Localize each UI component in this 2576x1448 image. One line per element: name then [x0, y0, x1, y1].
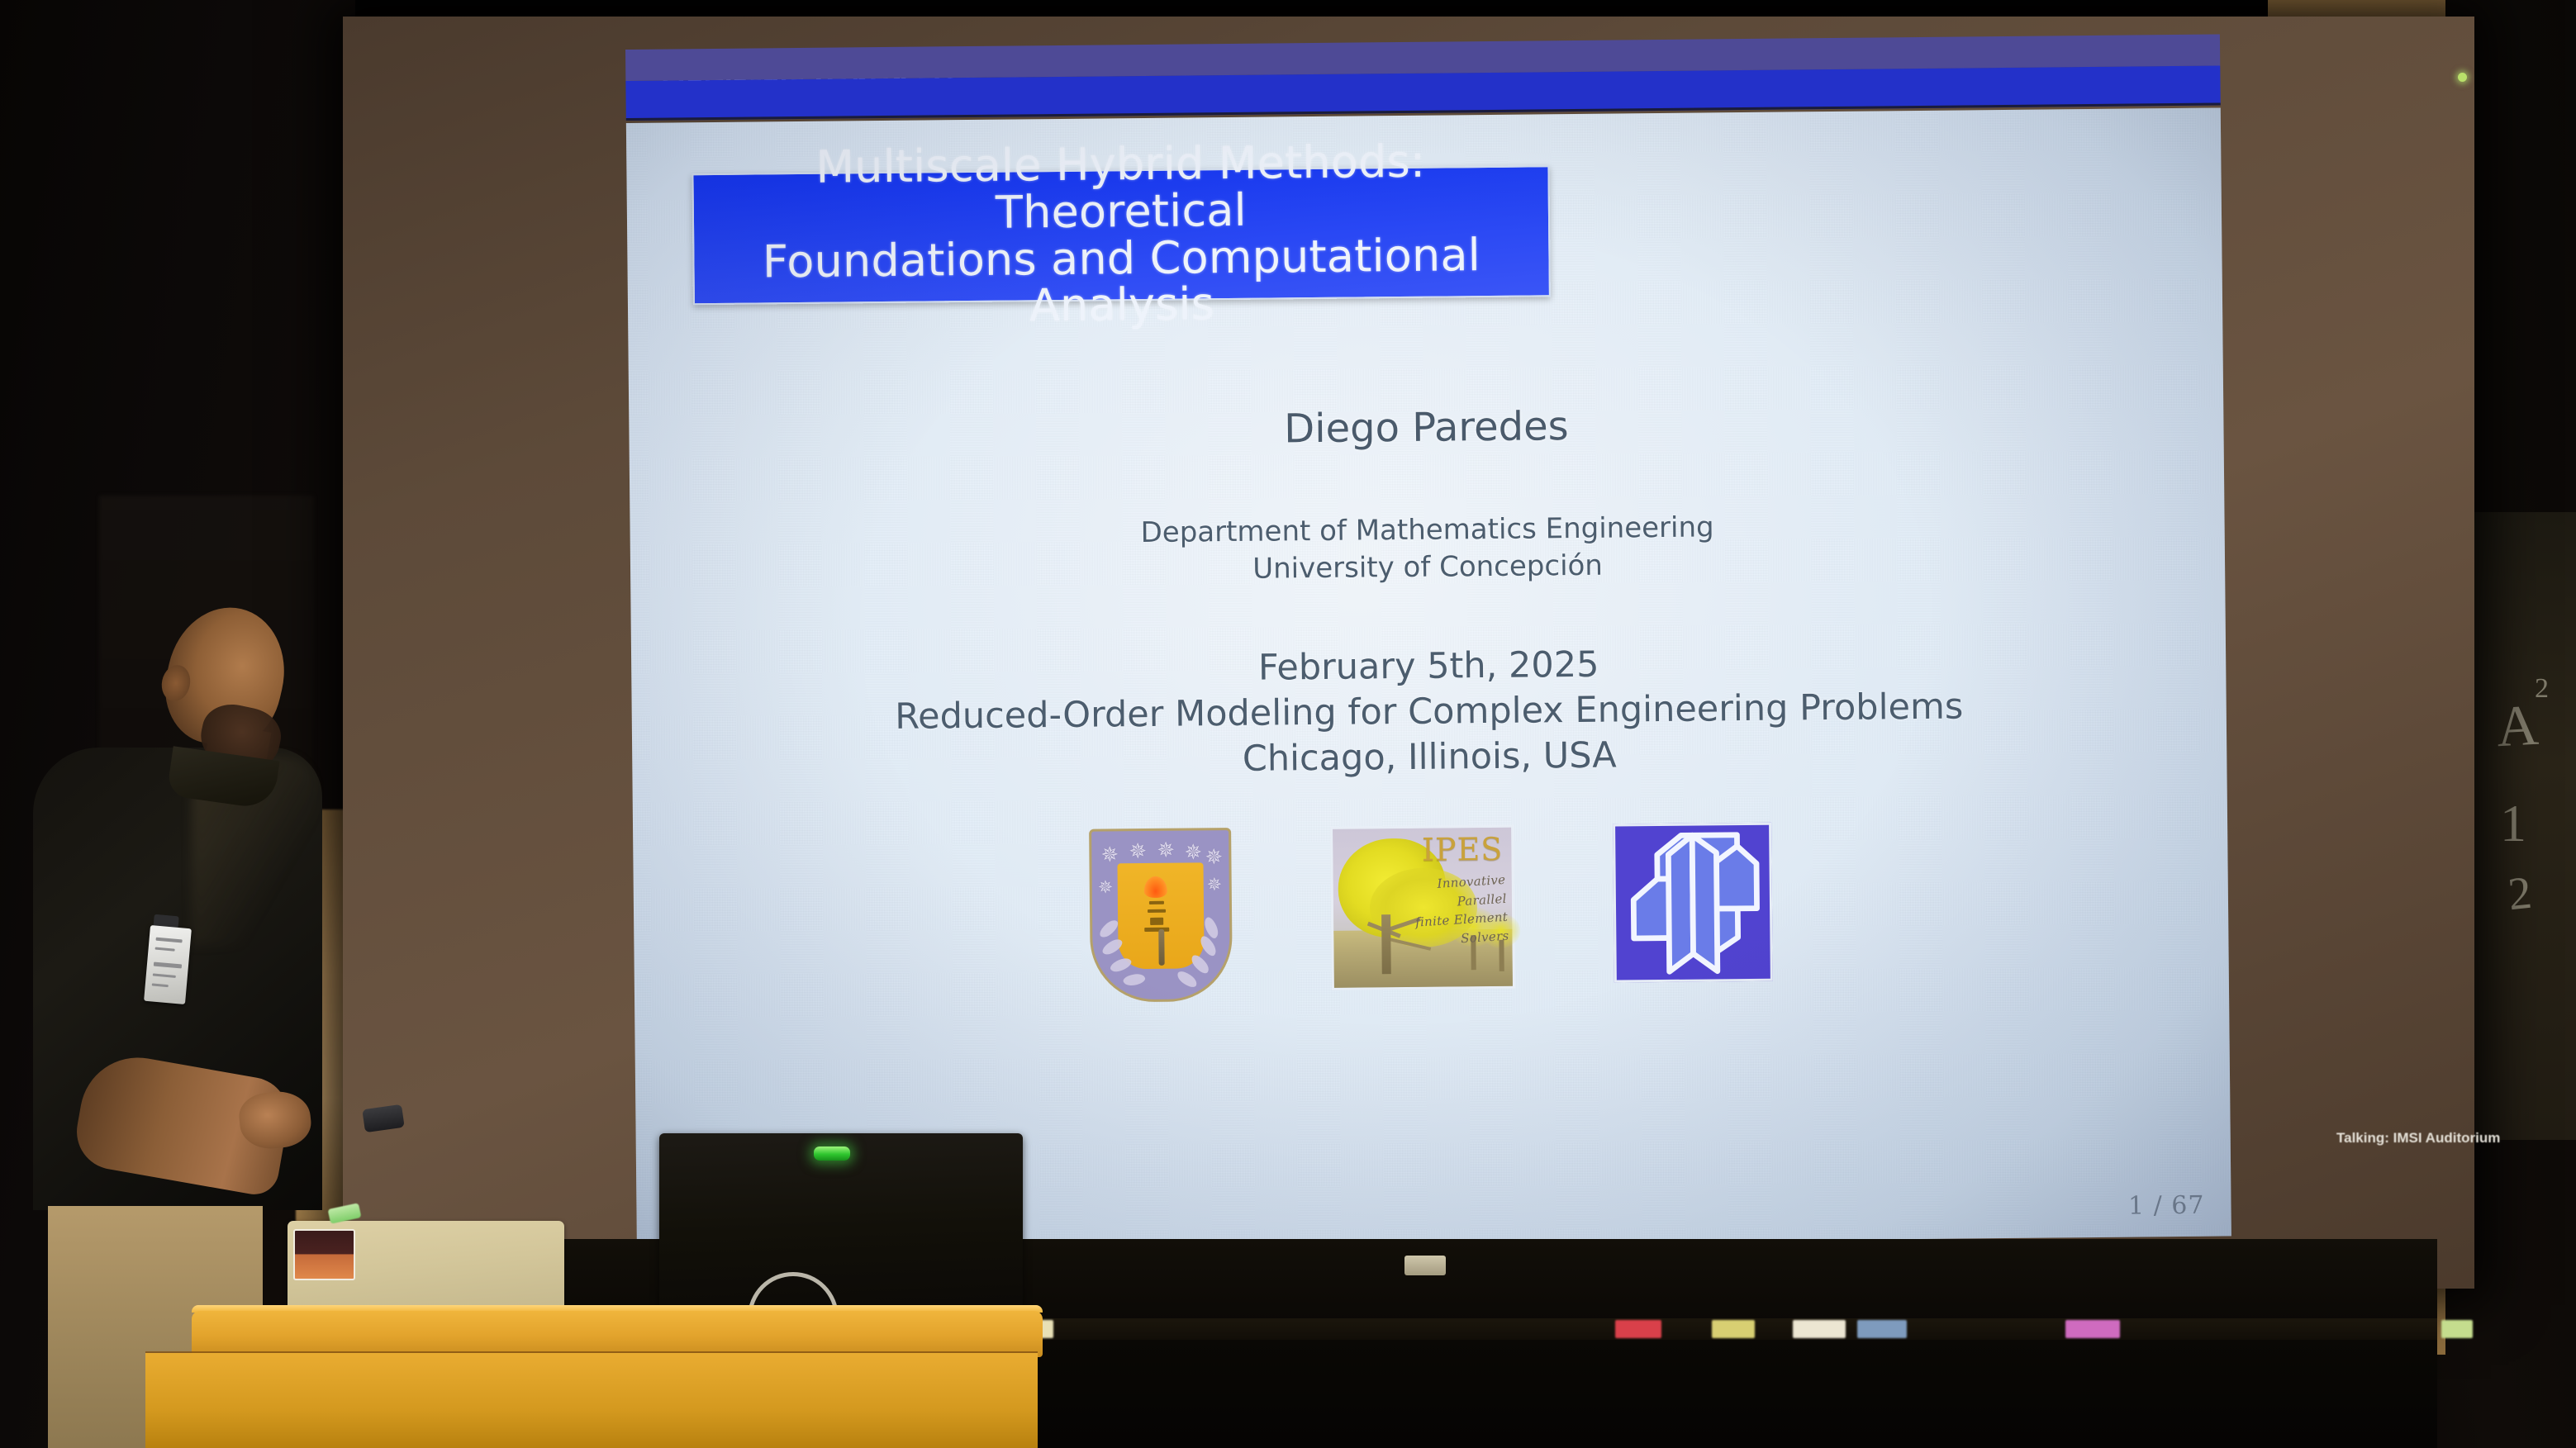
talking-indicator: Talking: IMSI Auditorium	[2336, 1130, 2502, 1147]
chalkboard-mark-one: 1	[2500, 793, 2526, 854]
chalk-piece	[2441, 1320, 2473, 1338]
podium-top	[192, 1311, 1043, 1357]
screen-indicator-dot	[2458, 73, 2467, 82]
slide-venue-block: February 5th, 2025 Reduced-Order Modelin…	[631, 636, 2227, 788]
chalk-piece	[1712, 1320, 1755, 1338]
slide-title-line1: Multiscale Hybrid Methods: Theoretical	[815, 135, 1425, 239]
chalk-piece	[1857, 1320, 1907, 1338]
presenter-badge	[144, 925, 192, 1004]
chalk-piece	[1793, 1320, 1846, 1338]
slide-date: February 5th, 2025	[1258, 644, 1599, 689]
ipes-tagline-line2: finite Element Solvers	[1415, 909, 1509, 946]
affiliation-department: Department of Mathematics Engineering	[1140, 510, 1713, 549]
university-of-concepcion-crest-icon: ✵ ✵ ✵ ✵ ✵ ✵ ✵	[1089, 828, 1233, 1003]
confidence-monitor[interactable]	[659, 1133, 1023, 1332]
chalk-piece	[2065, 1320, 2120, 1338]
slide-logo-row: ✵ ✵ ✵ ✵ ✵ ✵ ✵	[633, 818, 2229, 1007]
ipes-tagline: Innovative Parallel finite Element Solve…	[1396, 871, 1509, 952]
ipes-acronym: IPES	[1422, 831, 1504, 868]
mesh-cubes-svg	[1615, 825, 1770, 980]
slide-body: Multiscale Hybrid Methods: Theoretical F…	[626, 107, 2231, 1251]
slide-affiliation: Department of Mathematics Engineering Un…	[630, 504, 2225, 593]
laptop-sticker	[293, 1229, 355, 1280]
slide-event: Reduced-Order Modeling for Complex Engin…	[895, 686, 1964, 738]
ipes-logo-icon: IPES Innovative Parallel finite Element …	[1330, 825, 1515, 990]
slide-author: Diego Paredes	[629, 396, 2223, 458]
ipes-tagline-line1: Innovative Parallel	[1437, 872, 1507, 909]
slide-page-counter: 1 / 67	[2128, 1191, 2205, 1221]
podium-body	[145, 1353, 1038, 1448]
monitor-power-led-icon	[814, 1147, 850, 1161]
slide-title-box: Multiscale Hybrid Methods: Theoretical F…	[692, 165, 1550, 305]
projected-slide: Multiscale Hybrid Methods: Theoretical F…	[625, 34, 2231, 1251]
chalk-piece	[1615, 1320, 1661, 1338]
slide-location: Chicago, Illinois, USA	[1243, 735, 1617, 780]
lecture-hall-photo: A 2 1 2 Multiscale Hybrid Methods: Theor…	[0, 0, 2576, 1448]
desk-clip	[1404, 1256, 1446, 1275]
chalkboard-mark-a: A	[2495, 693, 2540, 762]
slide-title: Multiscale Hybrid Methods: Theoretical F…	[693, 137, 1549, 333]
affiliation-university: University of Concepción	[1252, 549, 1603, 586]
chalkboard-mark-superscript: 2	[2535, 673, 2549, 705]
slide-title-line2: Foundations and Computational Analysis	[763, 229, 1481, 332]
mesh-cubes-logo-icon	[1613, 823, 1773, 983]
